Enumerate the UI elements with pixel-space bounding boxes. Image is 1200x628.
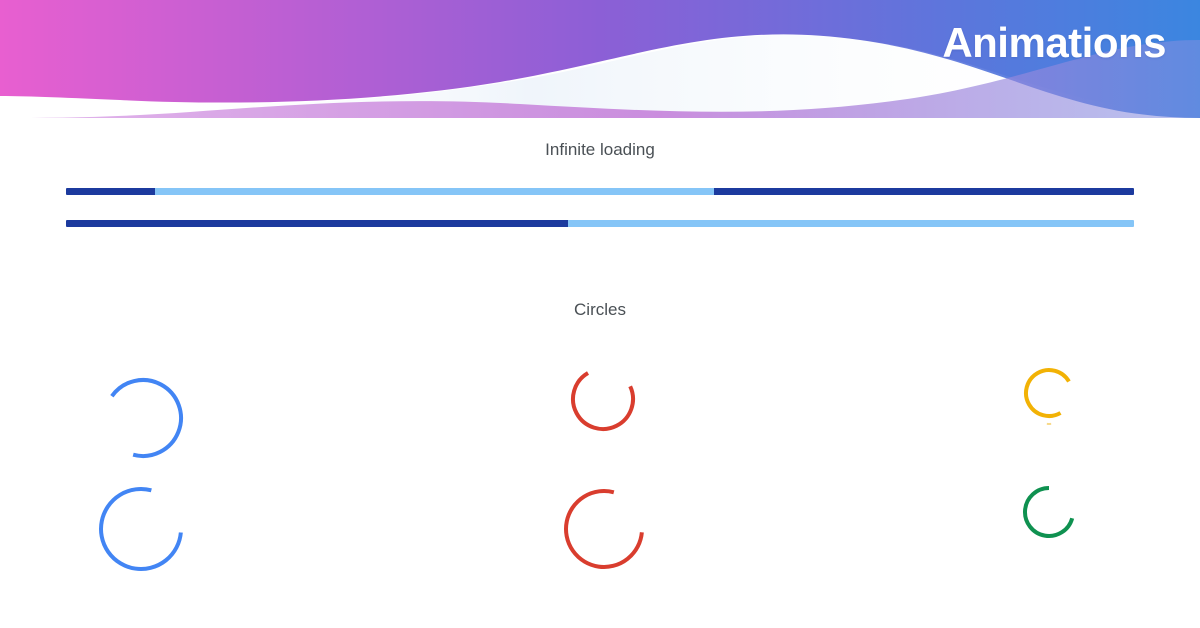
- bar-top-segment-1: [155, 188, 715, 195]
- page-title: Animations: [942, 22, 1166, 64]
- spinner-red-large: [573, 373, 633, 429]
- spinner-yellow: [1026, 370, 1069, 416]
- circles-section: Circles: [0, 300, 1200, 616]
- header-banner: Animations: [0, 0, 1200, 118]
- bar-top-segment-2: [714, 188, 1134, 195]
- bar-bottom-segment-1: [568, 220, 1134, 227]
- bar-top-segment-0: [66, 188, 155, 195]
- progress-bar-bottom[interactable]: [66, 220, 1134, 227]
- spinner-blue-large: [112, 380, 181, 456]
- progress-bar-group: [66, 188, 1134, 227]
- infinite-loading-label: Infinite loading: [0, 140, 1200, 160]
- progress-bar-top[interactable]: [66, 188, 1134, 195]
- spinner-blue-small: [101, 489, 181, 569]
- spinner-canvas: [0, 326, 1200, 616]
- bar-bottom-segment-0: [66, 220, 568, 227]
- spinner-red-small: [566, 491, 642, 567]
- infinite-loading-section: Infinite loading: [0, 140, 1200, 252]
- spinner-grid: [0, 326, 1200, 616]
- spinner-green: [1025, 488, 1072, 536]
- circles-label: Circles: [0, 300, 1200, 320]
